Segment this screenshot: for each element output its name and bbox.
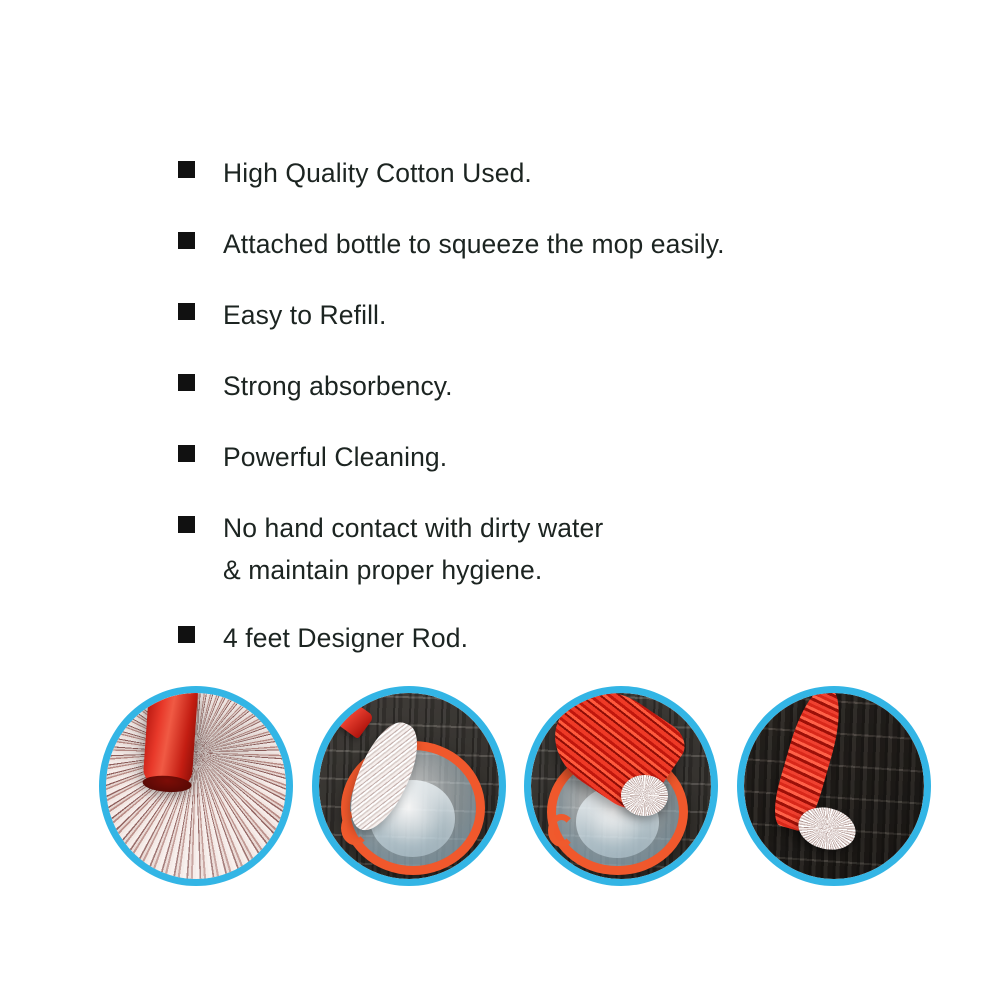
photo-scene	[531, 693, 711, 879]
bullet-square-icon	[178, 374, 195, 391]
product-photo-4	[737, 686, 931, 886]
bullet-square-icon	[178, 445, 195, 462]
photo-scene	[106, 693, 286, 879]
feature-text: Attached bottle to squeeze the mop easil…	[223, 223, 725, 265]
feature-text: No hand contact with dirty water & maint…	[223, 507, 603, 591]
feature-text: Strong absorbency.	[223, 365, 453, 407]
feature-text: 4 feet Designer Rod.	[223, 617, 468, 659]
photo-scene	[744, 693, 924, 879]
product-photo-2	[312, 686, 506, 886]
feature-text: Easy to Refill.	[223, 294, 387, 336]
feature-text: High Quality Cotton Used.	[223, 152, 532, 194]
list-item: No hand contact with dirty water & maint…	[178, 507, 898, 591]
feature-list: High Quality Cotton Used. Attached bottl…	[178, 152, 898, 688]
product-photo-1	[99, 686, 293, 886]
bullet-square-icon	[178, 161, 195, 178]
mop-head-fringe	[621, 775, 668, 816]
list-item: Powerful Cleaning.	[178, 436, 898, 478]
list-item: Easy to Refill.	[178, 294, 898, 336]
mop-handle	[142, 693, 198, 788]
bullet-square-icon	[178, 303, 195, 320]
list-item: 4 feet Designer Rod.	[178, 617, 898, 659]
product-photo-3	[524, 686, 718, 886]
product-feature-page: High Quality Cotton Used. Attached bottl…	[0, 0, 1000, 1000]
photo-shading	[106, 693, 286, 879]
list-item: Strong absorbency.	[178, 365, 898, 407]
bullet-square-icon	[178, 232, 195, 249]
list-item: Attached bottle to squeeze the mop easil…	[178, 223, 898, 265]
list-item: High Quality Cotton Used.	[178, 152, 898, 194]
feature-text: Powerful Cleaning.	[223, 436, 447, 478]
photo-strip	[0, 686, 1000, 890]
bucket-handle	[548, 814, 575, 847]
bullet-square-icon	[178, 626, 195, 643]
bullet-square-icon	[178, 516, 195, 533]
photo-scene	[319, 693, 499, 879]
